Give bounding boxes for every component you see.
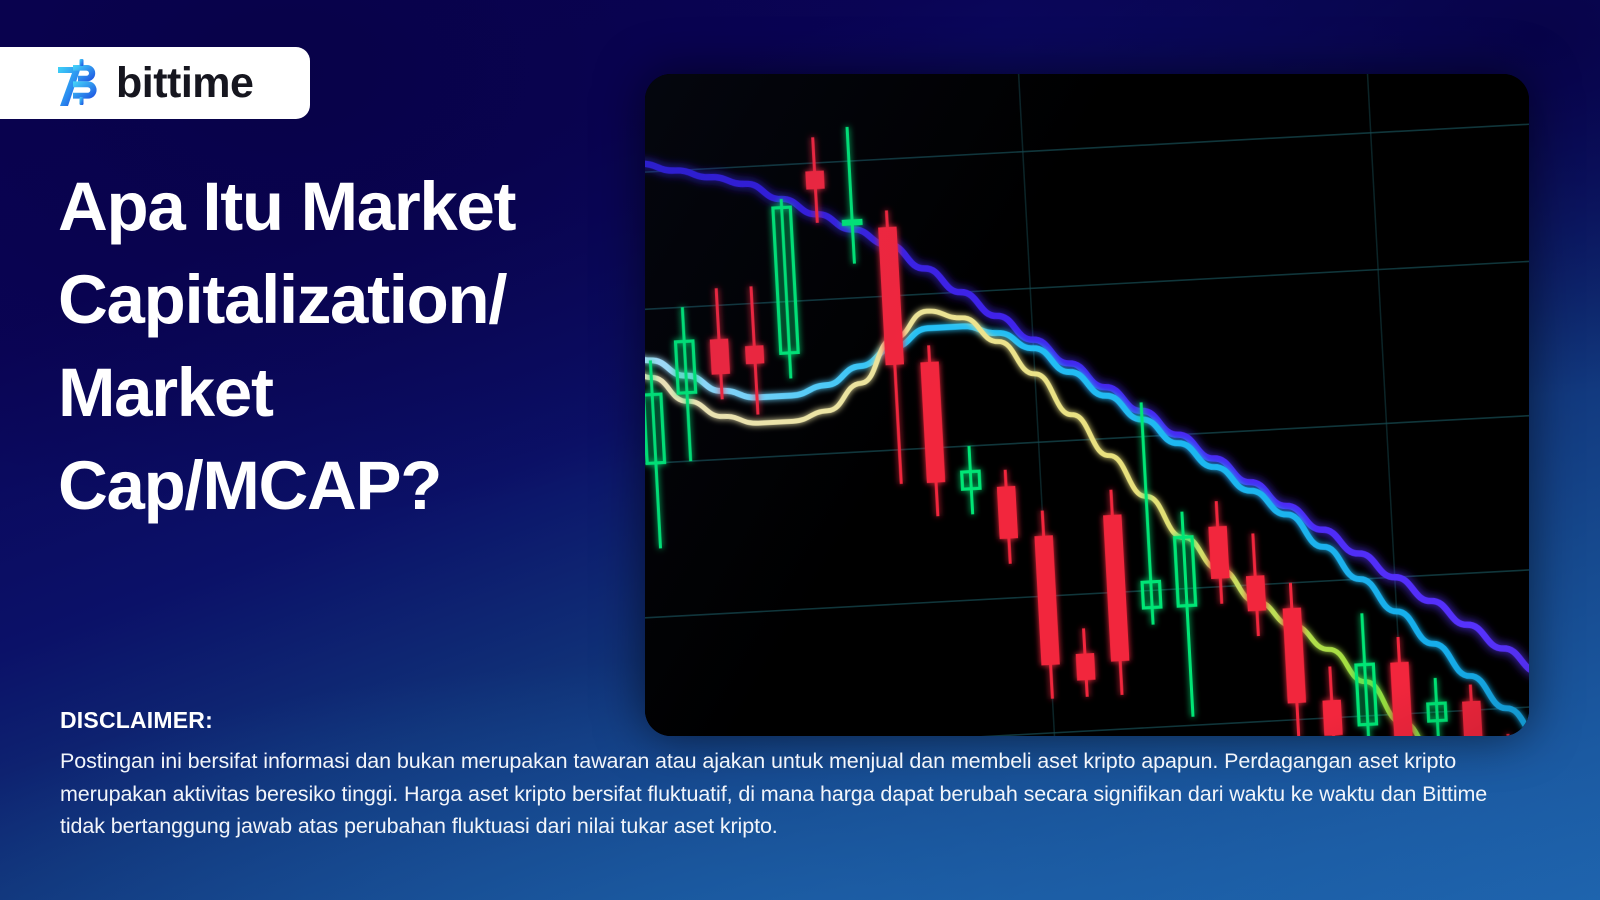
candlestick-chart [645,74,1529,736]
brand-logo-pill: bittime [0,47,310,119]
bittime-7b-logo-mark [56,58,102,108]
disclaimer-block: DISCLAIMER: Postingan ini bersifat infor… [60,707,1510,843]
market-chart-panel [645,74,1529,736]
brand-logo-wordmark: bittime [116,62,253,105]
page-title: Apa Itu Market Capitalization/ Market Ca… [58,160,658,533]
disclaimer-body: Postingan ini bersifat informasi dan buk… [60,745,1510,843]
disclaimer-title: DISCLAIMER: [60,707,1510,734]
chart-rotor [645,74,1529,736]
